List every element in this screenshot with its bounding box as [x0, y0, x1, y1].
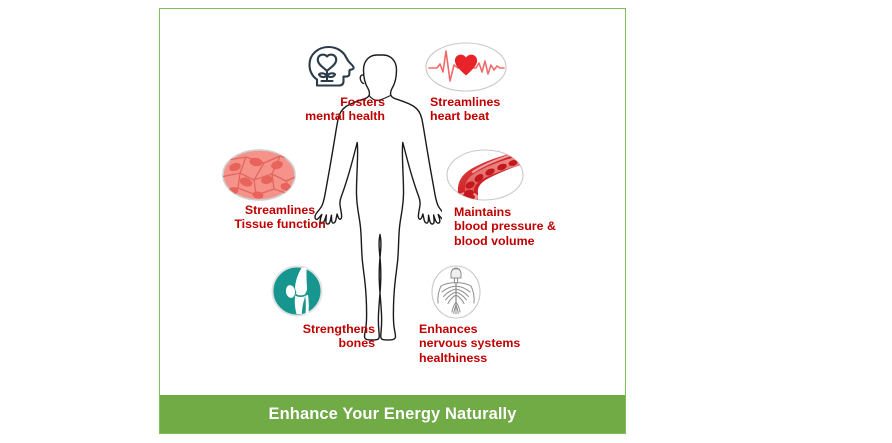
tissue-cells-icon: [220, 147, 298, 208]
nervous-system-icon: [427, 264, 485, 325]
benefit-tissue-function-label: Streamlines Tissue function: [200, 203, 360, 232]
head-with-heart-icon: [305, 43, 361, 100]
benefit-bones-label: Strengthens bones: [230, 322, 375, 351]
blood-vessel-icon: [445, 147, 525, 208]
knee-joint-bone-icon: [270, 264, 324, 323]
infographic-card: Fosters mental health Streamlines heart …: [159, 8, 626, 434]
infographic-content-area: Fosters mental health Streamlines heart …: [160, 9, 625, 433]
tagline-banner: Enhance Your Energy Naturally: [160, 395, 625, 433]
tagline-text: Enhance Your Energy Naturally: [268, 405, 516, 424]
benefit-nervous-system-label: Enhances nervous systems healthiness: [419, 322, 554, 365]
benefit-blood-pressure-label: Maintains blood pressure & blood volume: [454, 205, 594, 248]
benefit-mental-health-label: Fosters mental health: [255, 95, 385, 124]
benefit-heart-beat-label: Streamlines heart beat: [430, 95, 570, 124]
heartbeat-ecg-icon: [424, 41, 508, 98]
